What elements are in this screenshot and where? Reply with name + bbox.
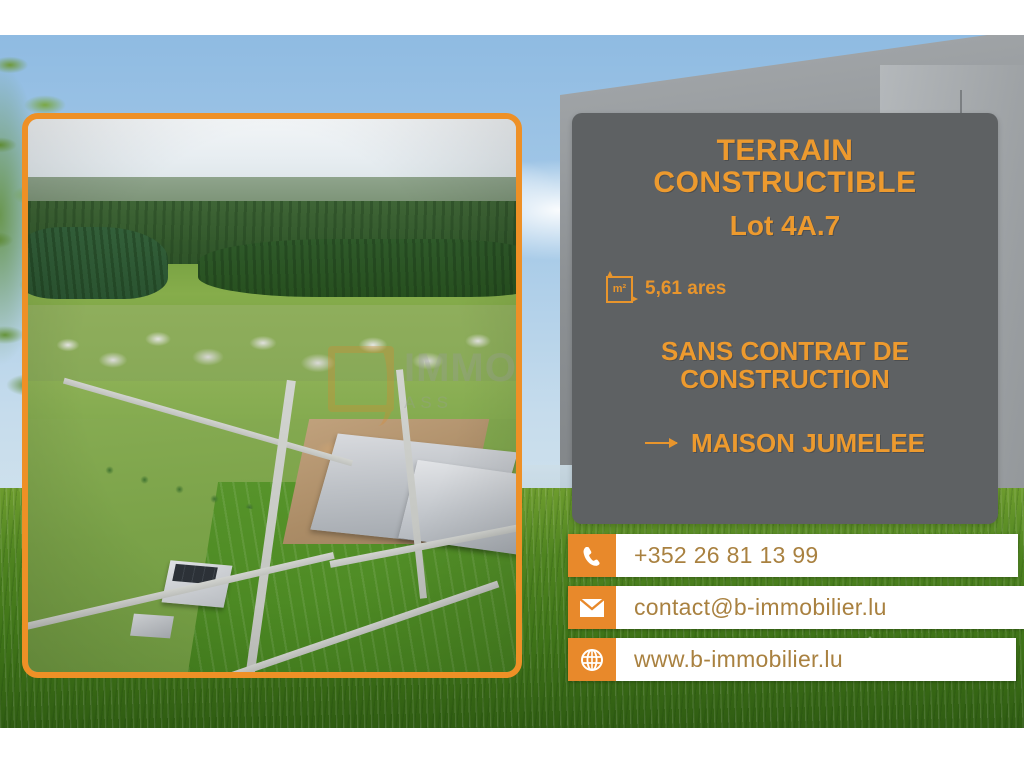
listing-info-panel: TERRAIN CONSTRUCTIBLE Lot 4A.7 m² 5,61 a… xyxy=(572,113,998,524)
phone-number: +352 26 81 13 99 xyxy=(616,534,1018,577)
advertisement-canvas: IMMOBILIER ASS TERRAIN CONSTRUCTIBLE Lot… xyxy=(0,0,1024,768)
headline-line-1: TERRAIN xyxy=(590,135,980,167)
headline-line-2: CONSTRUCTIBLE xyxy=(590,167,980,199)
globe-icon xyxy=(568,638,616,681)
no-contract-line-1: SANS CONTRAT DE xyxy=(590,337,980,366)
contact-row-phone[interactable]: +352 26 81 13 99 xyxy=(568,534,1018,577)
envelope-icon xyxy=(568,586,616,629)
contact-row-email[interactable]: contact@b-immobilier.lu xyxy=(568,586,1024,629)
contact-row-website[interactable]: www.b-immobilier.lu xyxy=(568,638,1016,681)
aerial-photo-card[interactable]: IMMOBILIER ASS xyxy=(22,113,522,678)
aerial-vignette xyxy=(28,119,516,672)
no-contract-line-2: CONSTRUCTION xyxy=(590,365,980,394)
website-url: www.b-immobilier.lu xyxy=(616,638,1016,681)
contact-bar: +352 26 81 13 99 contact@b-immobilier.lu xyxy=(568,534,1024,681)
arrow-right-icon xyxy=(645,442,677,444)
area-icon-label: m² xyxy=(613,283,626,295)
email-address: contact@b-immobilier.lu xyxy=(616,586,1024,629)
area-value: 5,61 ares xyxy=(645,278,726,300)
house-type-row: MAISON JUMELEE xyxy=(590,428,980,459)
phone-icon xyxy=(568,534,616,577)
area-square-meter-icon: m² xyxy=(606,276,633,303)
aerial-photo: IMMOBILIER ASS xyxy=(28,119,516,672)
listing-headline: TERRAIN CONSTRUCTIBLE xyxy=(590,135,980,200)
area-row: m² 5,61 ares xyxy=(590,276,980,303)
house-type-label: MAISON JUMELEE xyxy=(691,428,925,459)
lot-number: Lot 4A.7 xyxy=(590,210,980,242)
no-construction-contract-notice: SANS CONTRAT DE CONSTRUCTION xyxy=(590,337,980,394)
